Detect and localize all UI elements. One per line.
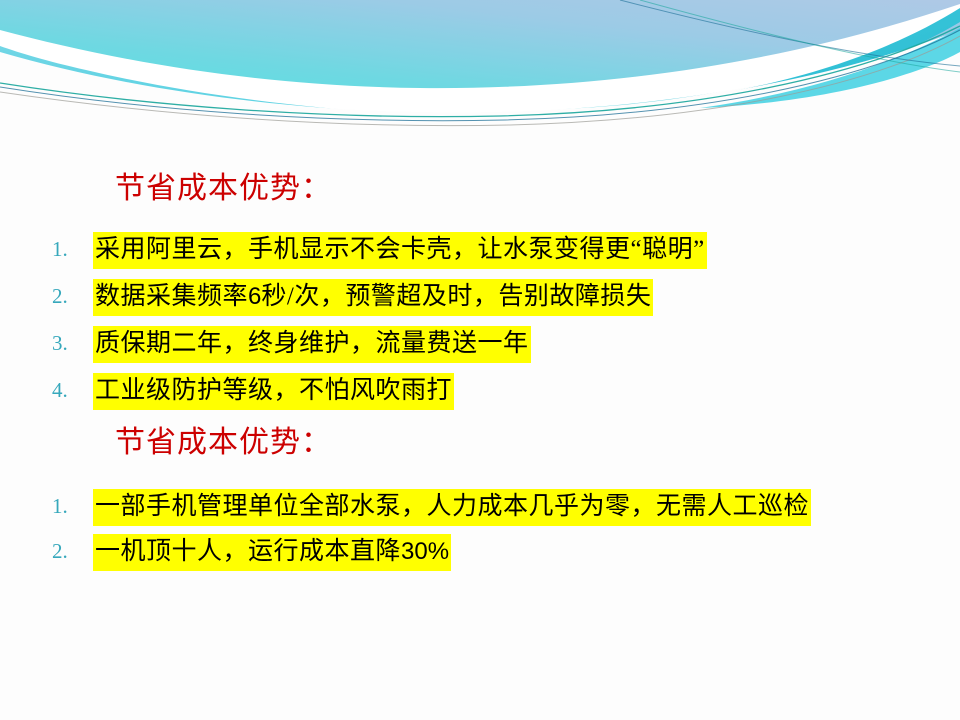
list-item-text: 质保期二年，终身维护，流量费送一年 [93,326,531,363]
list-item-text: 工业级防护等级，不怕风吹雨打 [93,373,454,410]
list-item-text-main: 质保期二年，终身维护，流量费送一年 [95,330,529,357]
list-marker: 2. [52,273,78,320]
section-1-heading: 节省成本优势： [0,166,960,212]
list-item-text-main: 工业级防护等级，不怕风吹雨打 [95,377,452,404]
list-item-text: 采用阿里云，手机显示不会卡壳，让水泵变得更“聪明” [93,232,707,269]
list-item-text: 一机顶十人，运行成本直降30% [93,534,451,571]
list-marker: 4. [52,367,78,414]
list-marker: 3. [52,320,78,367]
content-section-1: 节省成本优势： 1. 采用阿里云，手机显示不会卡壳，让水泵变得更“聪明” 2. … [0,166,960,414]
list-item: 3. 质保期二年，终身维护，流量费送一年 [0,320,960,367]
list-marker: 2. [52,529,78,574]
content-section-2: 节省成本优势： 1. 一部手机管理单位全部水泵，人力成本几乎为零，无需人工巡检 … [0,420,960,574]
list-item-text-tail: 秒/次，预警超及时，告别故障损失 [261,283,651,310]
slide-content: 节省成本优势： 1. 采用阿里云，手机显示不会卡壳，让水泵变得更“聪明” 2. … [0,0,960,720]
section-1-bullet-list: 1. 采用阿里云，手机显示不会卡壳，让水泵变得更“聪明” 2. 数据采集频率6秒… [0,226,960,414]
list-item-text-main: 一机顶十人，运行成本直降 [95,538,401,565]
list-item: 1. 采用阿里云，手机显示不会卡壳，让水泵变得更“聪明” [0,226,960,273]
list-marker: 1. [52,226,78,273]
list-item-text: 数据采集频率6秒/次，预警超及时，告别故障损失 [93,279,653,316]
list-item-text-latin: 6 [248,283,261,310]
section-2-bullet-list: 1. 一部手机管理单位全部水泵，人力成本几乎为零，无需人工巡检 2. 一机顶十人… [0,484,960,574]
list-item-text-latin: 30% [401,538,449,565]
list-marker: 1. [52,484,78,529]
list-item-text-main: 数据采集频率 [95,283,248,310]
list-item: 4. 工业级防护等级，不怕风吹雨打 [0,367,960,414]
slide-canvas: 节省成本优势： 1. 采用阿里云，手机显示不会卡壳，让水泵变得更“聪明” 2. … [0,0,960,720]
list-item-text-main: 采用阿里云，手机显示不会卡壳，让水泵变得更“聪明” [95,236,705,263]
list-item: 1. 一部手机管理单位全部水泵，人力成本几乎为零，无需人工巡检 [0,484,960,529]
list-item-text-main: 一部手机管理单位全部水泵，人力成本几乎为零，无需人工巡检 [95,493,809,520]
list-item: 2. 一机顶十人，运行成本直降30% [0,529,960,574]
list-item: 2. 数据采集频率6秒/次，预警超及时，告别故障损失 [0,273,960,320]
list-item-text: 一部手机管理单位全部水泵，人力成本几乎为零，无需人工巡检 [93,489,811,526]
section-2-heading: 节省成本优势： [0,420,960,466]
